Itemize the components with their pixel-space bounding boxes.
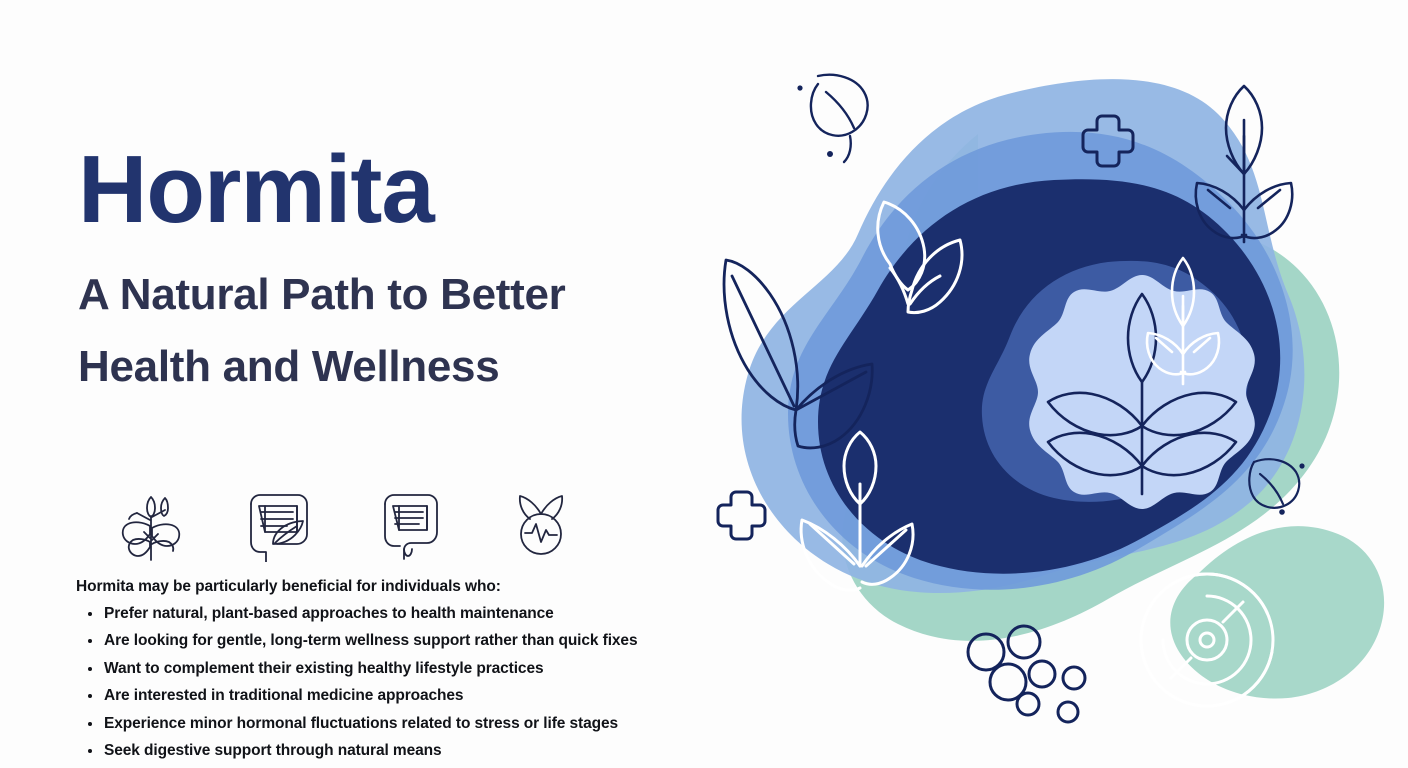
list-item: Seek digestive support through natural m… [76, 741, 656, 760]
heartbeat-leaf-icon [476, 483, 606, 565]
list-item: Experience minor hormonal fluctuations r… [76, 714, 656, 733]
list-item: Are looking for gentle, long-term wellne… [76, 631, 656, 650]
left-content-column: Hormita A Natural Path to Better Health … [0, 0, 680, 768]
list-item: Are interested in traditional medicine a… [76, 686, 656, 705]
molecule-cluster-icon [968, 626, 1085, 722]
feature-icon-strip [86, 483, 606, 565]
benefits-block: Hormita may be particularly beneficial f… [76, 578, 656, 768]
herb-plant-icon [86, 483, 216, 565]
plus-cross-icon-left [718, 492, 765, 539]
slide-root: Hormita A Natural Path to Better Health … [0, 0, 1408, 768]
benefits-list: Prefer natural, plant-based approaches t… [76, 604, 656, 760]
benefits-intro: Hormita may be particularly beneficial f… [76, 578, 656, 596]
list-item: Prefer natural, plant-based approaches t… [76, 604, 656, 623]
natural-wellness-blob-illustration [678, 14, 1398, 754]
leaf-sprout-doodle-icon [797, 75, 867, 162]
page-title: Hormita [78, 142, 434, 238]
intestine-icon [346, 483, 476, 565]
page-subtitle: A Natural Path to Better Health and Well… [78, 259, 638, 404]
list-item: Want to complement their existing health… [76, 659, 656, 678]
intestine-leaf-icon [216, 483, 346, 565]
